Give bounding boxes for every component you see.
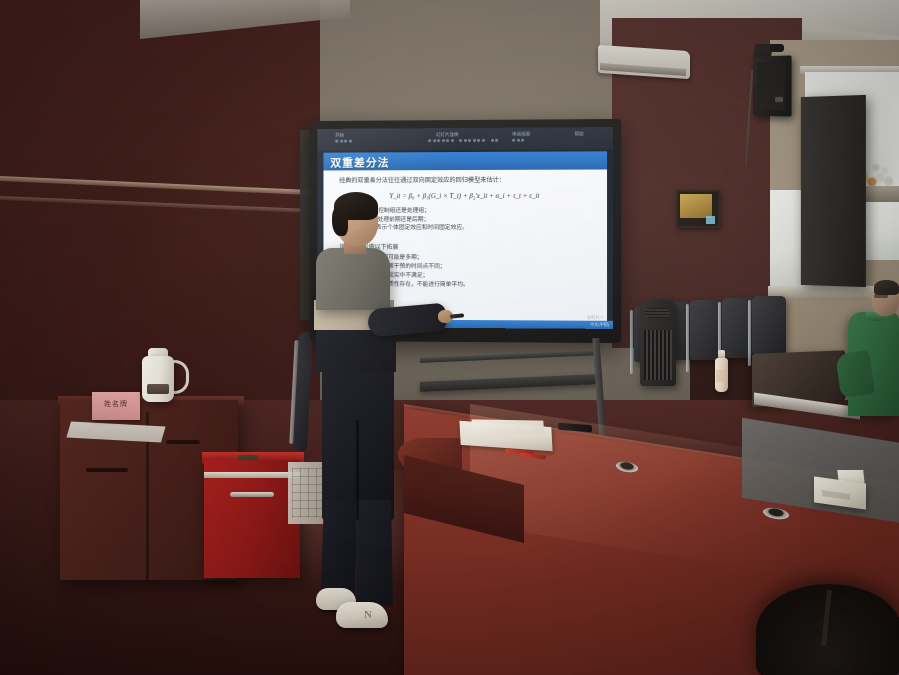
speaker-badge	[775, 97, 783, 102]
toolbar-group-home[interactable]: 开始	[335, 133, 344, 138]
presenter-leg-seam	[356, 420, 359, 520]
presenter-shoe-left	[336, 602, 388, 628]
seated-attendee-hair	[874, 280, 899, 295]
presenter-hair-side	[332, 206, 348, 236]
picture-label-tag	[706, 216, 715, 224]
presenter-leg-right	[355, 500, 393, 607]
air-purifier-grille	[644, 330, 672, 380]
toolbar-group-help[interactable]: 帮助	[575, 131, 584, 136]
seated-attendee-arm	[835, 350, 875, 398]
chair-frame-rail	[686, 304, 689, 372]
toolbar-group-review[interactable]: 审阅视图	[512, 132, 530, 137]
thermos-label	[147, 384, 169, 394]
seated-attendee-glasses	[874, 294, 888, 298]
shoe-brand-logo: N	[364, 610, 376, 621]
slide-equation: Y_it = β₀ + β₁(G_i × T_t) + β₂′x_it + α_…	[339, 192, 591, 201]
air-purifier-vent	[646, 308, 670, 318]
speaker-grille	[757, 62, 785, 110]
thermos[interactable]	[142, 356, 174, 402]
presenter-upper-torso	[316, 248, 390, 310]
tall-dark-cabinet	[801, 95, 866, 287]
status-bar-language: 中文(中国)	[590, 322, 609, 328]
chair-frame-rail	[630, 310, 633, 374]
storage-box-grid	[292, 468, 322, 518]
toolbar-icons-review[interactable]	[512, 139, 526, 143]
toolbar-icons-slideshow[interactable]	[428, 139, 500, 143]
desk-name-sign-text: 姓名牌	[98, 400, 134, 410]
papers-on-table-top-sheet[interactable]	[472, 419, 545, 434]
conference-room-scene: 姓名牌 开始 幻灯	[0, 0, 899, 675]
framed-picture-art	[680, 194, 712, 218]
slide-title: 双重差分法	[330, 154, 389, 170]
sanitizer-label	[716, 370, 727, 382]
red-cabinet-trim	[204, 472, 300, 478]
powerpoint-toolbar[interactable]: 开始 幻灯片放映 审阅视图 帮助	[318, 127, 614, 151]
chair-backrest	[752, 296, 786, 354]
cabinet-handle-right[interactable]	[166, 440, 200, 444]
speaker-mount-arm	[770, 44, 784, 52]
cabinet-handle-left[interactable]	[86, 468, 128, 472]
toolbar-group-slideshow[interactable]: 幻灯片放映	[436, 132, 458, 137]
red-cabinet-handle[interactable]	[230, 492, 274, 497]
slide-lead-text: 经典的双重差分法往往通过双向固定效应的回归模型来估计：	[339, 176, 591, 186]
chair-frame-rail	[748, 300, 751, 366]
toolbar-icons-home[interactable]	[335, 140, 353, 144]
